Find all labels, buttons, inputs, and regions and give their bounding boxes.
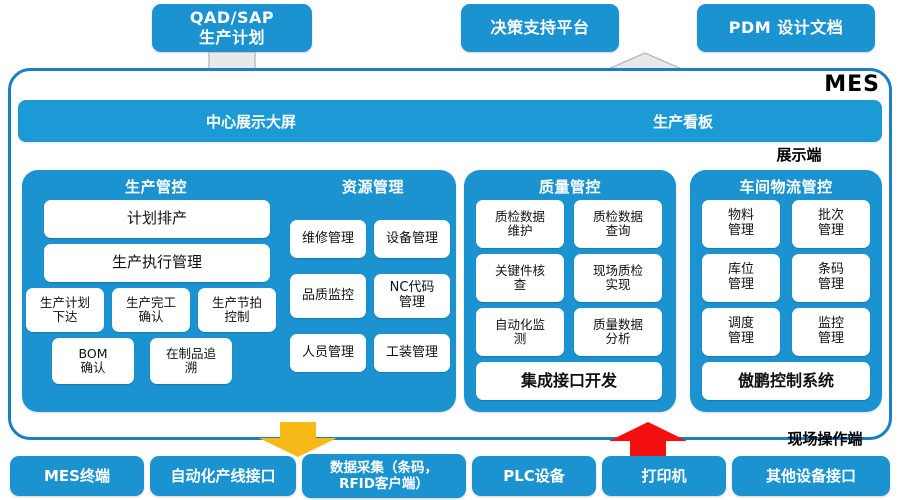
chip-plan-scheduling[interactable]: 计划排产	[44, 200, 270, 238]
external-system-decision-platform-label: 决策支持平台	[490, 18, 589, 38]
external-system-qad-sap-line-2: 生产计划	[190, 28, 274, 48]
chip-quality-data-analysis[interactable]: 质量数据 分析	[574, 308, 662, 356]
chip-barcode-management[interactable]: 条码 管理	[792, 254, 870, 302]
external-system-qad-sap-line-1: QAD/SAP	[190, 8, 274, 28]
device-plc-label: PLC设备	[503, 467, 565, 485]
chip-batch-management[interactable]: 批次 管理	[792, 200, 870, 248]
chip-aopeng-control-system[interactable]: 傲鹏控制系统	[702, 362, 870, 400]
section-title-production-control: 生产管控	[22, 176, 290, 197]
device-auto-line-interface-label: 自动化产线接口	[170, 467, 275, 485]
panel-production-resource: 生产管控 资源管理 计划排产 生产执行管理 生产计划 下达 生产完工 确认 生产…	[22, 170, 456, 412]
device-data-acquisition-line-1: 数据采集（条码，	[330, 460, 438, 476]
panel-quality-control: 质量管控 质检数据 维护 质检数据 查询 关键件核 查 现场质检 实现 自动化监…	[464, 170, 676, 412]
device-other-interface[interactable]: 其他设备接口	[732, 456, 890, 496]
chip-equipment-management[interactable]: 设备管理	[374, 220, 450, 258]
chip-dispatch-management[interactable]: 调度 管理	[702, 308, 780, 356]
chip-onsite-inspection[interactable]: 现场质检 实现	[574, 254, 662, 302]
device-printer[interactable]: 打印机	[602, 456, 726, 496]
chip-maintenance-management[interactable]: 维修管理	[290, 220, 366, 258]
external-system-qad-sap[interactable]: QAD/SAP 生产计划	[152, 4, 312, 52]
chip-location-management[interactable]: 库位 管理	[702, 254, 780, 302]
chip-completion-confirm[interactable]: 生产完工 确认	[112, 288, 190, 332]
external-system-pdm-doc[interactable]: PDM 设计文档	[697, 4, 875, 52]
device-auto-line-interface[interactable]: 自动化产线接口	[150, 456, 296, 496]
chip-monitoring-management[interactable]: 监控 管理	[792, 308, 870, 356]
tag-field-side: 现场操作端	[760, 428, 890, 450]
section-title-quality-control: 质量管控	[464, 176, 676, 197]
chip-takt-control[interactable]: 生产节拍 控制	[198, 288, 276, 332]
mes-architecture-diagram: QAD/SAP 生产计划 决策支持平台 PDM 设计文档 MES 中心展示大屏 …	[0, 0, 900, 500]
device-plc[interactable]: PLC设备	[472, 456, 596, 496]
chip-integration-interface-dev[interactable]: 集成接口开发	[476, 362, 662, 400]
section-title-resource-management: 资源管理	[290, 176, 456, 197]
panel-workshop-logistics: 车间物流管控 物料 管理 批次 管理 库位 管理 条码 管理 调度 管理 监控 …	[690, 170, 882, 412]
banner-cell-center-display: 中心展示大屏	[18, 111, 484, 132]
chip-wip-trace[interactable]: 在制品追 溯	[150, 338, 232, 384]
mes-title: MES	[740, 70, 880, 100]
device-data-acquisition-line-2: RFID客户端）	[330, 476, 438, 492]
device-mes-terminal[interactable]: MES终端	[10, 456, 144, 496]
external-system-pdm-doc-label: PDM 设计文档	[729, 18, 844, 38]
chip-key-part-check[interactable]: 关键件核 查	[476, 254, 564, 302]
banner-cell-production-board: 生产看板	[484, 111, 882, 132]
chip-bom-confirm[interactable]: BOM 确认	[52, 338, 134, 384]
chip-personnel-management[interactable]: 人员管理	[290, 334, 366, 372]
chip-tooling-management[interactable]: 工装管理	[374, 334, 450, 372]
external-system-decision-platform[interactable]: 决策支持平台	[461, 4, 619, 52]
device-mes-terminal-label: MES终端	[44, 467, 110, 485]
chip-material-management[interactable]: 物料 管理	[702, 200, 780, 248]
chip-quality-monitoring[interactable]: 品质监控	[290, 274, 366, 318]
section-title-workshop-logistics: 车间物流管控	[690, 176, 882, 197]
display-banner[interactable]: 中心展示大屏 生产看板	[18, 100, 882, 142]
chip-nc-code-management[interactable]: NC代码 管理	[374, 274, 450, 318]
arrow-feedback-up-icon	[608, 422, 688, 458]
chip-production-execution[interactable]: 生产执行管理	[44, 244, 270, 282]
chip-automated-monitoring[interactable]: 自动化监 测	[476, 308, 564, 356]
device-other-interface-label: 其他设备接口	[766, 467, 856, 485]
arrow-collect-down-icon	[258, 422, 338, 458]
chip-plan-release[interactable]: 生产计划 下达	[26, 288, 104, 332]
tag-display-side: 展示端	[744, 144, 854, 166]
device-data-acquisition[interactable]: 数据采集（条码， RFID客户端）	[302, 454, 466, 498]
device-printer-label: 打印机	[641, 467, 686, 485]
chip-qc-data-maintenance[interactable]: 质检数据 维护	[476, 200, 564, 248]
chip-qc-data-query[interactable]: 质检数据 查询	[574, 200, 662, 248]
